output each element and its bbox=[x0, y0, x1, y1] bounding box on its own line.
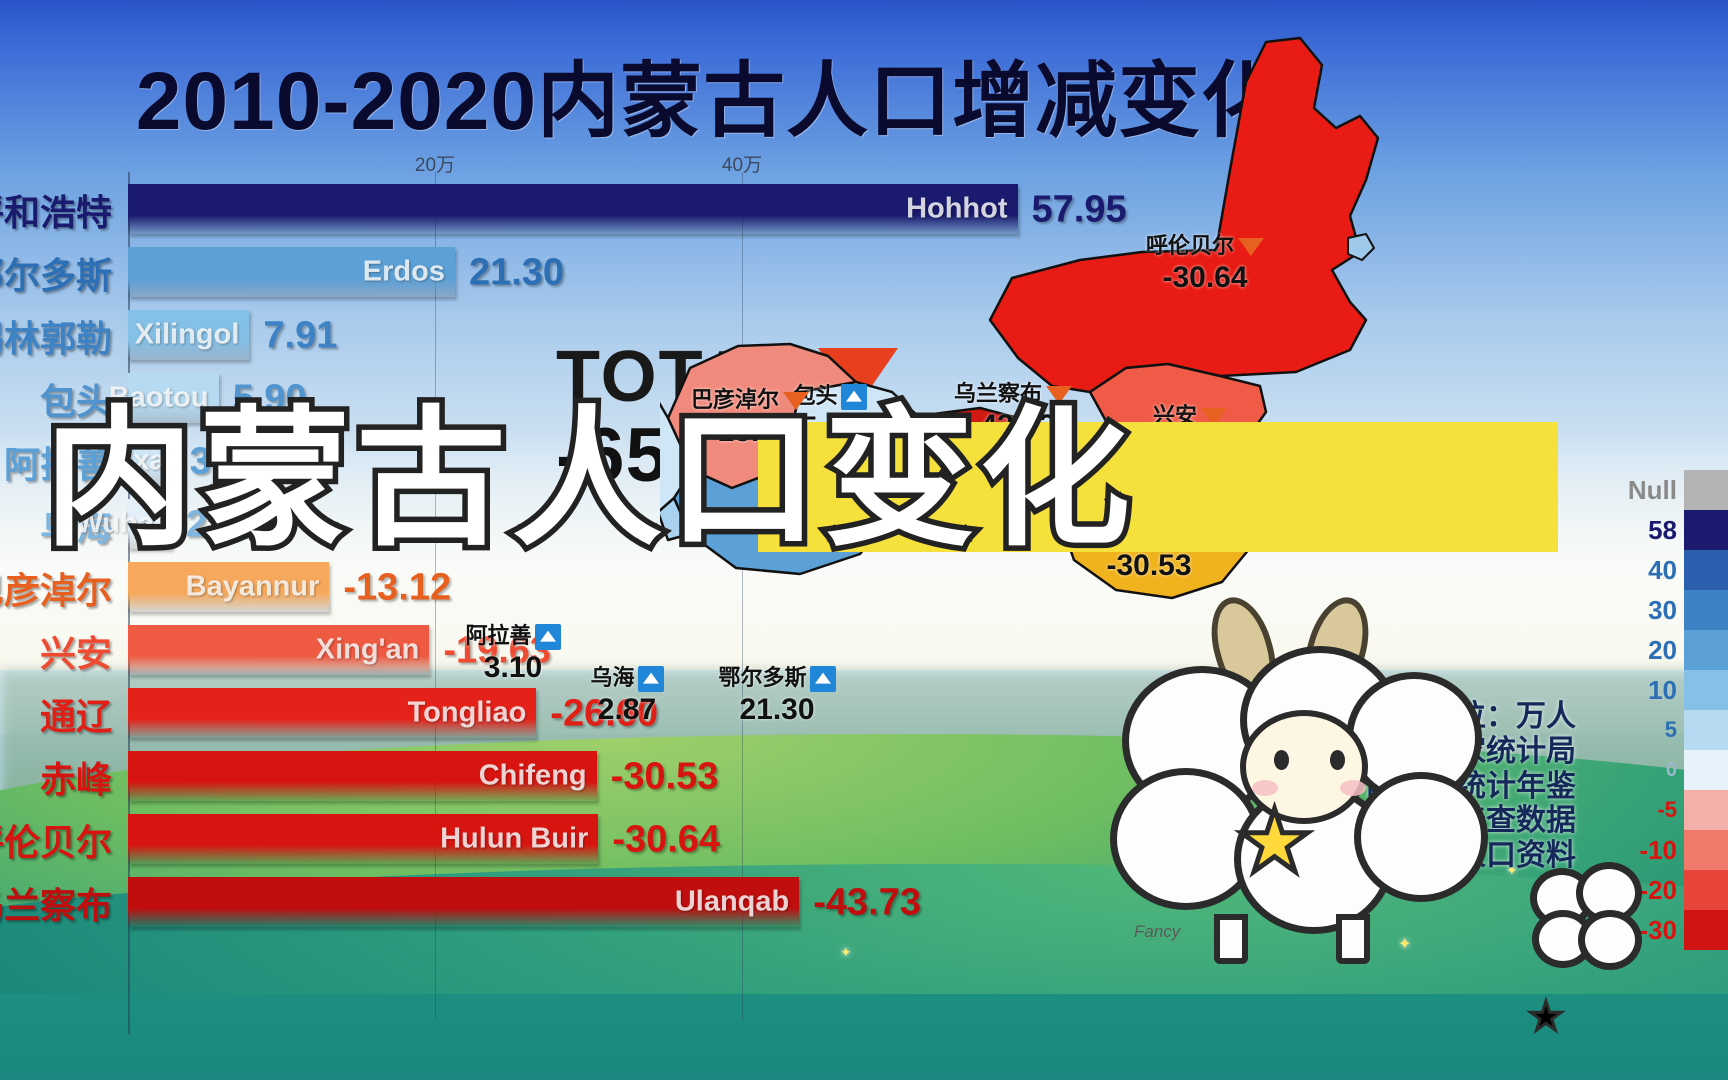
legend-item[interactable]: 10 bbox=[1578, 670, 1728, 710]
map-label-value: 2.87 bbox=[552, 693, 702, 727]
chart-bar[interactable]: Bayannur bbox=[128, 562, 329, 612]
bar-value-label: 7.91 bbox=[263, 314, 337, 357]
legend-color-swatch bbox=[1684, 910, 1728, 950]
bar-category-label: 巴彦淖尔 bbox=[0, 562, 112, 614]
chart-bar[interactable]: Ulanqab bbox=[128, 877, 799, 927]
legend-label: 58 bbox=[1648, 515, 1677, 546]
legend-label: Null bbox=[1628, 475, 1677, 506]
bar-english-label: Xing'an bbox=[316, 634, 420, 667]
bar-english-label: Erdos bbox=[363, 256, 445, 289]
legend-item[interactable]: -5 bbox=[1578, 790, 1728, 830]
legend-color-swatch bbox=[1684, 590, 1728, 630]
sheep-wool bbox=[1578, 910, 1642, 970]
sheep-leg bbox=[1336, 914, 1370, 964]
bar-value-label: -13.12 bbox=[343, 566, 451, 609]
legend-item[interactable]: Null bbox=[1578, 470, 1728, 510]
sheep-eye bbox=[1528, 970, 1537, 982]
bar-value-label: -43.73 bbox=[813, 881, 921, 924]
map-label-hulunbuir: 呼伦贝尔 -30.64 bbox=[1090, 228, 1320, 295]
legend-label: 30 bbox=[1648, 595, 1677, 626]
legend-color-swatch bbox=[1684, 670, 1728, 710]
sheep-wool bbox=[1354, 772, 1488, 902]
bar-category-label: 通辽 bbox=[40, 688, 112, 740]
watermark-part2: 人口变化 bbox=[512, 395, 1136, 563]
x-axis-tick-label: 20万 bbox=[415, 150, 455, 177]
bar-category-label: 兴安 bbox=[40, 625, 112, 677]
map-label-erdos: 鄂尔多斯 21.30 bbox=[682, 660, 872, 727]
legend-color-swatch bbox=[1684, 710, 1728, 750]
up-triangle-icon bbox=[810, 666, 836, 692]
bar-category-label: 锡林郭勒 bbox=[0, 310, 112, 362]
legend-item[interactable]: 58 bbox=[1578, 510, 1728, 550]
bar-english-label: Tongliao bbox=[408, 697, 527, 730]
map-label-value: 3.10 bbox=[408, 651, 618, 685]
legend-label: 0 bbox=[1666, 759, 1677, 782]
sheep-mascot-icon: ★ Fancy bbox=[1118, 592, 1488, 992]
chart-bar[interactable]: Xing'an bbox=[128, 625, 429, 675]
sheep-leg bbox=[1214, 914, 1248, 964]
watermark-overlay: 内蒙古人口变化 bbox=[44, 404, 1136, 554]
bar-category-label: 乌兰察布 bbox=[0, 877, 112, 929]
chart-row[interactable]: 呼伦贝尔Hulun Buir-30.64 bbox=[0, 808, 1120, 871]
chart-bar[interactable]: Chifeng bbox=[128, 751, 597, 801]
map-label-alxa: 阿拉善 3.10 bbox=[408, 618, 618, 685]
legend-item[interactable]: 20 bbox=[1578, 630, 1728, 670]
legend-label: -5 bbox=[1657, 797, 1677, 823]
bar-english-label: Chifeng bbox=[479, 760, 587, 793]
legend-color-swatch bbox=[1684, 830, 1728, 870]
legend-color-swatch bbox=[1684, 750, 1728, 790]
map-label-name: 阿拉善 bbox=[465, 623, 531, 648]
map-label-name: 呼伦贝尔 bbox=[1146, 233, 1234, 258]
legend-label: 40 bbox=[1648, 555, 1677, 586]
legend-label: 5 bbox=[1665, 717, 1677, 743]
artist-signature: Fancy bbox=[1134, 922, 1180, 942]
bar-category-label: 呼伦贝尔 bbox=[0, 814, 112, 866]
legend-item[interactable]: 5 bbox=[1578, 710, 1728, 750]
legend-color-swatch bbox=[1684, 870, 1728, 910]
watermark-text: 内蒙古人口变化 bbox=[44, 404, 1136, 554]
chart-bar[interactable]: Erdos bbox=[128, 247, 455, 297]
legend-color-swatch bbox=[1684, 470, 1728, 510]
legend-item[interactable]: 30 bbox=[1578, 590, 1728, 630]
chart-row[interactable]: 乌兰察布Ulanqab-43.73 bbox=[0, 871, 1120, 934]
legend-color-swatch bbox=[1684, 790, 1728, 830]
bar-english-label: Xilingol bbox=[135, 319, 240, 352]
sheep-mascot-small-icon: ★ bbox=[1528, 838, 1660, 988]
down-triangle-icon bbox=[1238, 238, 1264, 256]
region-hulunbuir bbox=[990, 38, 1378, 392]
chart-bar[interactable]: Xilingol bbox=[128, 310, 249, 360]
bar-category-label: 鄂尔多斯 bbox=[0, 247, 112, 299]
sheep-cheek bbox=[1340, 780, 1366, 796]
watermark-part1: 内蒙古 bbox=[44, 395, 512, 563]
legend-color-swatch bbox=[1684, 550, 1728, 590]
chart-bar[interactable]: Hulun Buir bbox=[128, 814, 598, 864]
bar-category-label: 赤峰 bbox=[40, 751, 112, 803]
legend-color-swatch bbox=[1684, 630, 1728, 670]
bar-value-label: -30.64 bbox=[612, 818, 720, 861]
legend-color-swatch bbox=[1684, 510, 1728, 550]
bar-value-label: 21.30 bbox=[469, 251, 564, 294]
legend-item[interactable]: 0 bbox=[1578, 750, 1728, 790]
bar-category-label: 呼和浩特 bbox=[0, 184, 112, 236]
star-icon: ★ bbox=[1528, 994, 1660, 1040]
sheep-eye bbox=[1528, 982, 1537, 994]
sheep-eye bbox=[1330, 750, 1345, 770]
legend-label: 10 bbox=[1648, 675, 1677, 706]
legend-item[interactable]: 40 bbox=[1578, 550, 1728, 590]
map-label-value: 21.30 bbox=[682, 693, 872, 727]
map-label-value: -30.64 bbox=[1090, 261, 1320, 295]
sheep-eye bbox=[1274, 750, 1289, 770]
star-icon: ★ bbox=[1236, 792, 1313, 892]
up-triangle-icon bbox=[535, 624, 561, 650]
map-label-name: 鄂尔多斯 bbox=[718, 665, 806, 690]
bar-english-label: Hulun Buir bbox=[440, 823, 588, 856]
up-triangle-icon bbox=[638, 666, 664, 692]
region-hulunbuir-lake bbox=[1348, 234, 1374, 260]
bar-english-label: Bayannur bbox=[186, 571, 320, 604]
chart-bar[interactable]: Tongliao bbox=[128, 688, 536, 738]
legend-label: 20 bbox=[1648, 635, 1677, 666]
bar-english-label: Ulanqab bbox=[675, 886, 789, 919]
